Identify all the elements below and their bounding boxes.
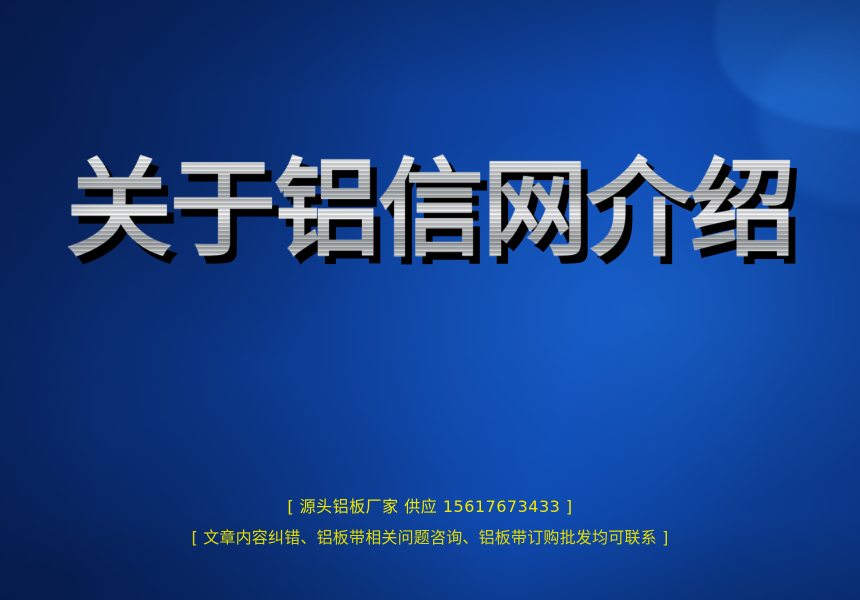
footer-contact-line: [ 源头铝板厂家 供应 15617673433 ] [0,497,860,517]
footer-note-line: [ 文章内容纠错、铝板带相关问题咨询、铝板带订购批发均可联系 ] [0,528,860,548]
slide-title-text: 关于铝信网介绍 [0,154,860,266]
title-slide: 关于铝信网介绍 关于铝信网介绍 [ 源头铝板厂家 供应 15617673433 … [0,0,860,600]
slide-title: 关于铝信网介绍 关于铝信网介绍 [0,146,860,286]
